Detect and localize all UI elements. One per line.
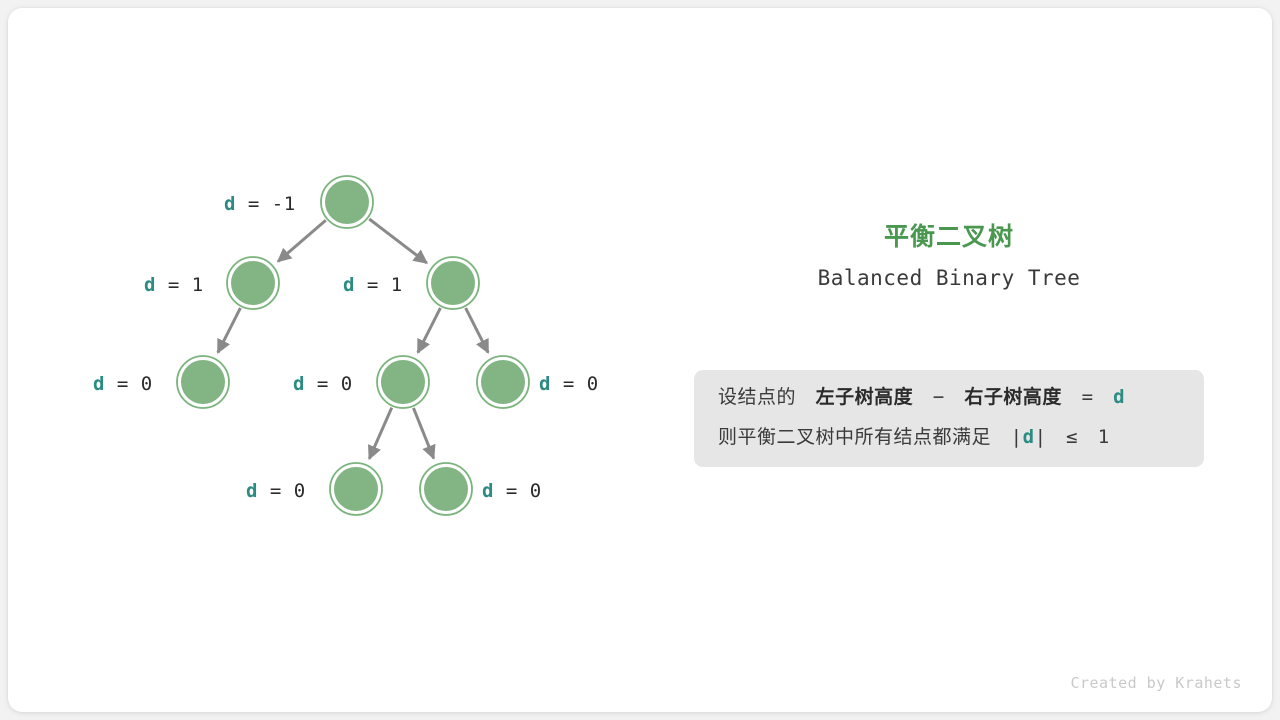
tree-edges bbox=[218, 219, 488, 459]
tree-edge bbox=[466, 308, 489, 353]
definition-line-1: 设结点的 左子树高度 − 右子树高度 = d bbox=[718, 388, 1180, 407]
binary-tree-diagram bbox=[0, 0, 1280, 720]
node-label-variable: d bbox=[144, 274, 156, 296]
node-label-n6: d = 0 bbox=[246, 482, 306, 501]
tree-edge bbox=[369, 408, 391, 459]
node-label-value: = 0 bbox=[105, 373, 153, 395]
tree-node-n1[interactable] bbox=[231, 261, 275, 305]
page-title-en: Balanced Binary Tree bbox=[694, 266, 1204, 290]
definition-box: 设结点的 左子树高度 − 右子树高度 = d 则平衡二叉树中所有结点都满足 |d… bbox=[694, 370, 1204, 467]
definition-variable-d: d bbox=[1113, 386, 1125, 408]
page-title-cn: 平衡二叉树 bbox=[694, 222, 1204, 252]
abs-bar-open: | bbox=[1011, 426, 1023, 448]
tree-edge bbox=[369, 219, 427, 263]
definition-equals-operator: = bbox=[1082, 386, 1094, 408]
tree-edge bbox=[218, 308, 241, 353]
constraint-value: 1 bbox=[1098, 426, 1110, 448]
tree-edge bbox=[413, 408, 433, 458]
node-label-value: = 1 bbox=[355, 274, 403, 296]
tree-node-n0[interactable] bbox=[325, 180, 369, 224]
definition-minus-operator: − bbox=[933, 386, 945, 408]
node-label-value: = 0 bbox=[551, 373, 599, 395]
node-label-variable: d bbox=[224, 193, 236, 215]
constraint-prefix: 则平衡二叉树中所有结点都满足 bbox=[718, 426, 991, 448]
node-label-n4: d = 0 bbox=[293, 375, 353, 394]
title-panel: 平衡二叉树 Balanced Binary Tree bbox=[694, 222, 1204, 290]
node-label-value: = 0 bbox=[258, 480, 306, 502]
constraint-operator: ≤ bbox=[1066, 426, 1078, 448]
node-label-value: = 0 bbox=[305, 373, 353, 395]
node-label-n1: d = 1 bbox=[144, 276, 204, 295]
tree-node-n5[interactable] bbox=[481, 360, 525, 404]
node-label-n0: d = -1 bbox=[224, 195, 296, 214]
tree-node-n2[interactable] bbox=[431, 261, 475, 305]
node-label-variable: d bbox=[343, 274, 355, 296]
tree-edge bbox=[278, 220, 326, 261]
node-label-variable: d bbox=[539, 373, 551, 395]
credit-text: Created by Krahets bbox=[1070, 674, 1242, 692]
tree-node-n6[interactable] bbox=[334, 467, 378, 511]
tree-nodes bbox=[177, 176, 529, 515]
node-label-variable: d bbox=[482, 480, 494, 502]
node-label-value: = 1 bbox=[156, 274, 204, 296]
abs-bar-close: | bbox=[1035, 426, 1047, 448]
definition-line-2: 则平衡二叉树中所有结点都满足 |d| ≤ 1 bbox=[718, 428, 1180, 447]
tree-node-n3[interactable] bbox=[181, 360, 225, 404]
tree-node-n4[interactable] bbox=[381, 360, 425, 404]
tree-node-n7[interactable] bbox=[424, 467, 468, 511]
node-label-value: = 0 bbox=[494, 480, 542, 502]
definition-prefix: 设结点的 bbox=[718, 386, 796, 408]
node-label-variable: d bbox=[293, 373, 305, 395]
node-label-value: = -1 bbox=[236, 193, 296, 215]
tree-edge bbox=[418, 308, 441, 353]
node-label-variable: d bbox=[93, 373, 105, 395]
node-label-n3: d = 0 bbox=[93, 375, 153, 394]
definition-term-left: 左子树高度 bbox=[816, 386, 914, 408]
node-label-n2: d = 1 bbox=[343, 276, 403, 295]
node-label-n7: d = 0 bbox=[482, 482, 542, 501]
screenshot-canvas: d = -1d = 1d = 1d = 0d = 0d = 0d = 0d = … bbox=[0, 0, 1280, 720]
constraint-variable-d: d bbox=[1023, 426, 1035, 448]
node-label-n5: d = 0 bbox=[539, 375, 599, 394]
definition-term-right: 右子树高度 bbox=[964, 386, 1062, 408]
node-label-variable: d bbox=[246, 480, 258, 502]
